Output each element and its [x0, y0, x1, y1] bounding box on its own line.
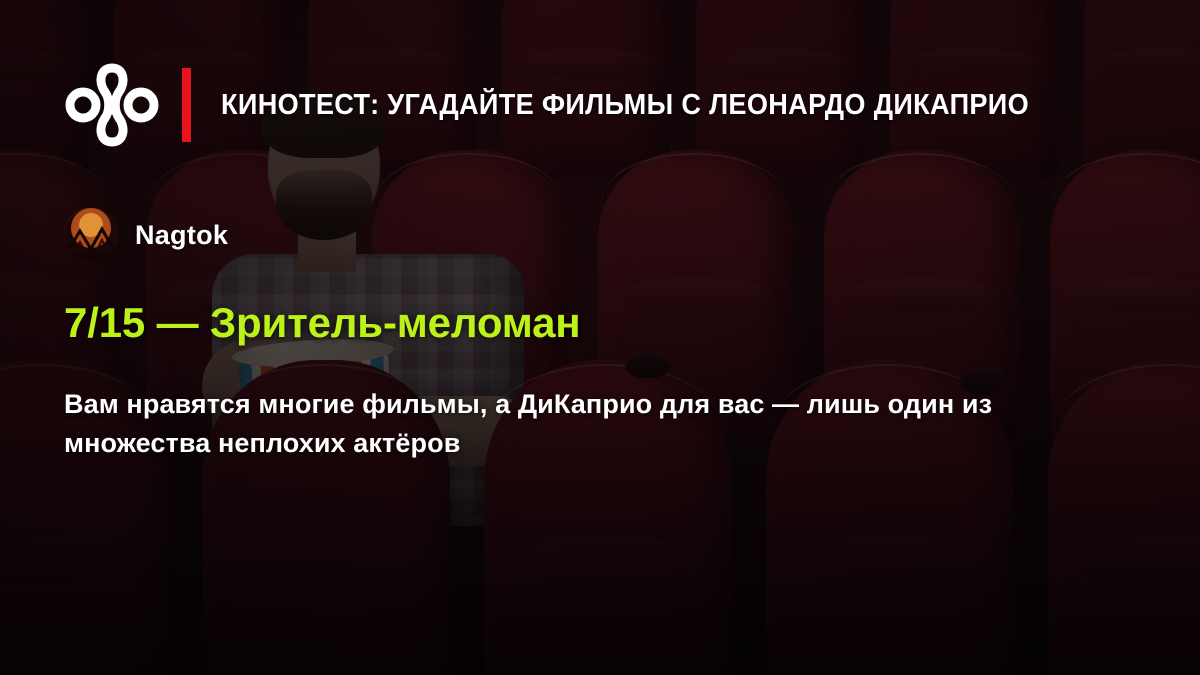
mountain-avatar-icon[interactable] [64, 208, 118, 262]
red-divider [182, 68, 191, 142]
result-title: 7/15 — Зритель-меломан [64, 300, 581, 345]
page-title: КИНОТЕСТ: УГАДАЙТЕ ФИЛЬМЫ С ЛЕОНАРДО ДИК… [221, 91, 1029, 120]
result-description: Вам нравятся многие фильмы, а ДиКаприо д… [64, 385, 1104, 463]
ollo-logo-icon[interactable] [64, 62, 160, 148]
author-name[interactable]: Nagtok [135, 220, 228, 251]
brand-header: КИНОТЕСТ: УГАДАЙТЕ ФИЛЬМЫ С ЛЕОНАРДО ДИК… [64, 62, 1085, 148]
quiz-result-card: КИНОТЕСТ: УГАДАЙТЕ ФИЛЬМЫ С ЛЕОНАРДО ДИК… [0, 0, 1200, 675]
author-row[interactable]: Nagtok [64, 208, 228, 262]
content-layer: КИНОТЕСТ: УГАДАЙТЕ ФИЛЬМЫ С ЛЕОНАРДО ДИК… [0, 0, 1200, 675]
